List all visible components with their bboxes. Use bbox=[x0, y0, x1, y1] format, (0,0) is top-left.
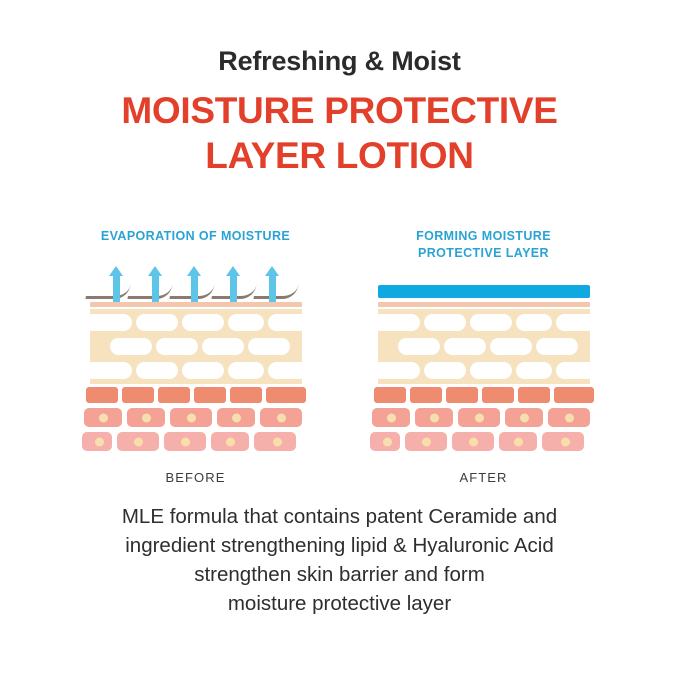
skin-cell bbox=[164, 432, 206, 451]
skin-cell bbox=[254, 432, 296, 451]
basal-layer bbox=[90, 432, 302, 453]
before-panel: EVAPORATION OF MOISTURE bbox=[90, 228, 302, 485]
lipid-capsule bbox=[470, 314, 512, 331]
lipid-capsule bbox=[536, 338, 578, 355]
skin-cell bbox=[505, 408, 543, 427]
corneocyte-layer bbox=[90, 309, 302, 384]
cell-nucleus bbox=[273, 437, 282, 446]
granular-cell bbox=[266, 387, 306, 403]
cell-nucleus bbox=[383, 437, 392, 446]
cell-nucleus bbox=[475, 413, 484, 422]
evaporation-arrow-icon bbox=[152, 274, 159, 302]
after-panel: FORMING MOISTURE PROTECTIVE LAYER bbox=[378, 228, 590, 485]
granular-cell bbox=[410, 387, 442, 403]
granular-cell bbox=[122, 387, 154, 403]
eyebrow-text: Refreshing & Moist bbox=[0, 46, 679, 77]
granular-cell bbox=[374, 387, 406, 403]
skin-scale-icon bbox=[127, 284, 172, 299]
lipid-capsule bbox=[248, 338, 290, 355]
lipid-capsule bbox=[424, 314, 466, 331]
lipid-capsule bbox=[424, 362, 466, 379]
skin-diagram-comparison: EVAPORATION OF MOISTURE bbox=[0, 228, 679, 485]
granular-layer bbox=[90, 387, 302, 405]
skin-cell bbox=[117, 432, 159, 451]
skin-cell bbox=[370, 432, 400, 451]
skin-scale-icon bbox=[253, 284, 298, 299]
skin-cell bbox=[82, 432, 112, 451]
after-caption-top: FORMING MOISTURE PROTECTIVE LAYER bbox=[416, 228, 551, 264]
lipid-capsule bbox=[84, 362, 132, 379]
cell-nucleus bbox=[277, 413, 286, 422]
damaged-surface-zone bbox=[90, 270, 302, 302]
spinous-layer bbox=[90, 408, 302, 429]
heading-block: Refreshing & Moist MOISTURE PROTECTIVE L… bbox=[0, 46, 679, 178]
lipid-capsule bbox=[516, 314, 552, 331]
cell-nucleus bbox=[514, 437, 523, 446]
skin-scale-icon bbox=[85, 284, 130, 299]
cell-nucleus bbox=[187, 413, 196, 422]
granular-layer bbox=[378, 387, 590, 405]
product-infographic: Refreshing & Moist MOISTURE PROTECTIVE L… bbox=[0, 0, 679, 679]
lipid-capsule bbox=[268, 314, 310, 331]
cell-nucleus bbox=[430, 413, 439, 422]
after-skin-cross-section bbox=[378, 270, 590, 453]
skin-cell bbox=[452, 432, 494, 451]
cell-nucleus bbox=[95, 437, 104, 446]
lipid-capsule bbox=[84, 314, 132, 331]
title-line-2: LAYER LOTION bbox=[205, 135, 473, 176]
cell-nucleus bbox=[181, 437, 190, 446]
lipid-capsule bbox=[372, 362, 420, 379]
lipid-capsule bbox=[202, 338, 244, 355]
cell-nucleus bbox=[226, 437, 235, 446]
granular-cell bbox=[518, 387, 550, 403]
cell-nucleus bbox=[520, 413, 529, 422]
granular-cell bbox=[554, 387, 594, 403]
evaporation-arrow-icon bbox=[269, 274, 276, 302]
skin-cell bbox=[405, 432, 447, 451]
before-caption-top: EVAPORATION OF MOISTURE bbox=[101, 228, 290, 264]
skin-cell bbox=[170, 408, 212, 427]
granular-cell bbox=[158, 387, 190, 403]
lipid-capsule bbox=[136, 362, 178, 379]
basal-layer bbox=[378, 432, 590, 453]
evaporation-arrow-icon bbox=[113, 274, 120, 302]
granular-cell bbox=[230, 387, 262, 403]
skin-cell bbox=[127, 408, 165, 427]
cell-nucleus bbox=[142, 413, 151, 422]
page-title: MOISTURE PROTECTIVE LAYER LOTION bbox=[0, 88, 679, 178]
skin-cell bbox=[260, 408, 302, 427]
lipid-capsule bbox=[156, 338, 198, 355]
cell-nucleus bbox=[232, 413, 241, 422]
skin-cell bbox=[211, 432, 249, 451]
cell-nucleus bbox=[565, 413, 574, 422]
after-label: AFTER bbox=[459, 470, 507, 485]
cell-nucleus bbox=[422, 437, 431, 446]
granular-cell bbox=[446, 387, 478, 403]
skin-cell bbox=[458, 408, 500, 427]
cell-nucleus bbox=[387, 413, 396, 422]
cell-nucleus bbox=[469, 437, 478, 446]
evaporation-arrow-icon bbox=[191, 274, 198, 302]
cell-nucleus bbox=[561, 437, 570, 446]
skin-cell bbox=[217, 408, 255, 427]
description-line-2: ingredient strengthening lipid & Hyaluro… bbox=[0, 531, 679, 560]
protective-film-zone bbox=[378, 270, 590, 302]
skin-cell bbox=[415, 408, 453, 427]
cell-nucleus bbox=[134, 437, 143, 446]
granular-cell bbox=[482, 387, 514, 403]
evaporation-arrow-icon bbox=[230, 274, 237, 302]
lipid-capsule bbox=[490, 338, 532, 355]
title-line-1: MOISTURE PROTECTIVE bbox=[121, 90, 557, 131]
description-line-1: MLE formula that contains patent Ceramid… bbox=[0, 502, 679, 531]
spinous-layer bbox=[378, 408, 590, 429]
skin-cell bbox=[542, 432, 584, 451]
skin-cell bbox=[372, 408, 410, 427]
lipid-capsule bbox=[228, 314, 264, 331]
description-line-4: moisture protective layer bbox=[0, 589, 679, 618]
skin-cell bbox=[499, 432, 537, 451]
lipid-capsule bbox=[398, 338, 440, 355]
description-line-3: strengthen skin barrier and form bbox=[0, 560, 679, 589]
lipid-capsule bbox=[136, 314, 178, 331]
description-paragraph: MLE formula that contains patent Ceramid… bbox=[0, 502, 679, 618]
lipid-capsule bbox=[182, 362, 224, 379]
before-skin-cross-section bbox=[90, 270, 302, 453]
lipid-capsule bbox=[268, 362, 310, 379]
lipid-capsule bbox=[372, 314, 420, 331]
lipid-capsule bbox=[110, 338, 152, 355]
lipid-capsule bbox=[516, 362, 552, 379]
lipid-capsule bbox=[182, 314, 224, 331]
after-caption-line-2: PROTECTIVE LAYER bbox=[418, 246, 549, 260]
skin-cell bbox=[548, 408, 590, 427]
moisture-protective-film bbox=[378, 285, 590, 298]
before-label: BEFORE bbox=[165, 470, 225, 485]
granular-cell bbox=[86, 387, 118, 403]
surface-boundary-line bbox=[90, 302, 302, 307]
lipid-capsule bbox=[556, 314, 598, 331]
skin-cell bbox=[84, 408, 122, 427]
lipid-capsule bbox=[228, 362, 264, 379]
after-caption-line-1: FORMING MOISTURE bbox=[416, 229, 551, 243]
lipid-capsule bbox=[556, 362, 598, 379]
lipid-capsule bbox=[470, 362, 512, 379]
cell-nucleus bbox=[99, 413, 108, 422]
granular-cell bbox=[194, 387, 226, 403]
surface-boundary-line bbox=[378, 302, 590, 307]
lipid-capsule bbox=[444, 338, 486, 355]
corneocyte-layer bbox=[378, 309, 590, 384]
